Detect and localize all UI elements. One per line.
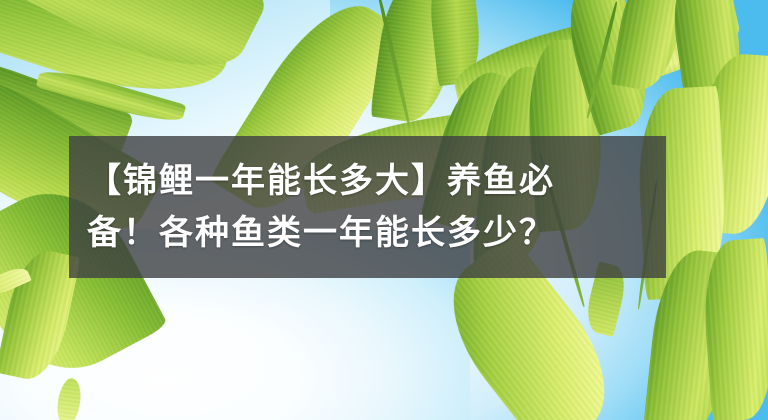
banner-image: 【锦鲤一年能长多大】养鱼必 备！各种鱼类一年能长多少？	[0, 0, 768, 420]
caption-overlay-bar: 【锦鲤一年能长多大】养鱼必 备！各种鱼类一年能长多少？	[69, 136, 666, 278]
caption-line-1: 【锦鲤一年能长多大】养鱼必	[87, 156, 666, 208]
caption-line-2: 备！各种鱼类一年能长多少？	[87, 208, 666, 260]
